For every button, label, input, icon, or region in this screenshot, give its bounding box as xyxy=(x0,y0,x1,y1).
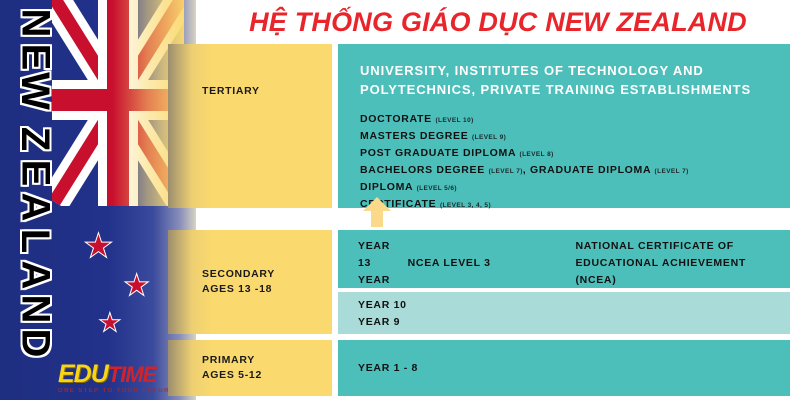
junior-year-row: YEAR 10 xyxy=(358,297,790,314)
qualification-name: MASTERS DEGREE xyxy=(360,130,468,142)
ncea-year: YEAR 13 xyxy=(358,238,404,272)
qualification-row: MASTERS DEGREE (LEVEL 9) xyxy=(360,128,776,145)
country-letter: Z xyxy=(18,127,52,151)
country-letter: N xyxy=(18,295,52,324)
country-letter: E xyxy=(18,160,52,187)
edutime-logo: EDU TIME ONE STEP TO YOUR FUTURE xyxy=(58,362,186,394)
level-label-tertiary: TERTIARY xyxy=(168,44,332,208)
union-jack-icon xyxy=(52,0,184,206)
qualification-level: (LEVEL 7) xyxy=(489,168,523,175)
primary-years: YEAR 1 - 8 xyxy=(358,362,418,374)
country-letter: A xyxy=(18,261,52,290)
qualification-name: POST GRADUATE DIPLOMA xyxy=(360,147,516,159)
logo-time-text: TIME xyxy=(108,364,157,386)
qualification-name: BACHELORS DEGREE xyxy=(360,164,485,176)
tertiary-heading: UNIVERSITY, INSTITUTES OF TECHNOLOGY AND… xyxy=(360,62,776,100)
new-zealand-flag-panel: ★ ★ ★ N E W Z E A L A N D EDU TIME ONE S… xyxy=(0,0,196,400)
qualification-row: BACHELORS DEGREE (LEVEL 7), GRADUATE DIP… xyxy=(360,162,776,179)
qualification-row: DIPLOMA (LEVEL 5/6) xyxy=(360,179,776,196)
secondary-ages-text: AGES 13 -18 xyxy=(202,282,275,297)
qualification-level: (LEVEL 5/6) xyxy=(417,185,457,192)
tertiary-label-text: TERTIARY xyxy=(202,84,260,99)
southern-cross-star-icon: ★ xyxy=(85,232,112,262)
logo-edu-text: EDU xyxy=(58,362,108,387)
qualification-name: DIPLOMA xyxy=(360,181,413,193)
country-letter: D xyxy=(18,329,52,358)
tertiary-heading-line1: UNIVERSITY, INSTITUTES OF TECHNOLOGY AND xyxy=(360,62,776,81)
tertiary-content-box: UNIVERSITY, INSTITUTES OF TECHNOLOGY AND… xyxy=(338,44,790,208)
country-letter: W xyxy=(18,72,52,110)
logo-tagline: ONE STEP TO YOUR FUTURE xyxy=(58,388,186,394)
level-label-secondary: SECONDARY AGES 13 -18 xyxy=(168,230,332,334)
southern-cross-star-icon: ★ xyxy=(125,272,148,298)
education-system-infographic: ★ ★ ★ N E W Z E A L A N D EDU TIME ONE S… xyxy=(0,0,800,400)
level-label-primary: PRIMARY AGES 5-12 xyxy=(168,340,332,396)
primary-label-text: PRIMARY xyxy=(202,353,262,368)
qualification-row: POST GRADUATE DIPLOMA (LEVEL 8) xyxy=(360,145,776,162)
country-letter: E xyxy=(18,44,52,71)
ncea-row: YEAR 13 NCEA LEVEL 3 xyxy=(358,238,575,272)
qualification-level-alt: (LEVEL 7) xyxy=(655,168,689,175)
qualification-name-alt: GRADUATE DIPLOMA xyxy=(530,164,651,176)
qualification-level: (LEVEL 10) xyxy=(435,117,473,124)
primary-ages-text: AGES 5-12 xyxy=(202,368,262,383)
secondary-ncea-box: YEAR 13 NCEA LEVEL 3 YEAR 12 NCEA LEVEL … xyxy=(338,230,790,288)
qualification-row: DOCTORATE (LEVEL 10) xyxy=(360,111,776,128)
secondary-label-text: SECONDARY xyxy=(202,267,275,282)
ncea-certificate-line1: NATIONAL CERTIFICATE OF xyxy=(575,238,790,255)
arrow-up-icon xyxy=(362,196,392,228)
qualification-row: CERTIFICATE (LEVEL 3, 4, 5) xyxy=(360,196,776,213)
qualification-level: (LEVEL 3, 4, 5) xyxy=(440,202,491,209)
country-letter: L xyxy=(18,229,52,253)
page-title: HỆ THỐNG GIÁO DỤC NEW ZEALAND xyxy=(196,2,800,42)
qualification-name: DOCTORATE xyxy=(360,113,432,125)
country-name-vertical: N E W Z E A L A N D xyxy=(4,6,66,396)
southern-cross-star-icon: ★ xyxy=(100,312,120,334)
ncea-level: NCEA LEVEL 3 xyxy=(408,257,491,269)
country-letter: N xyxy=(18,9,52,38)
primary-content-box: YEAR 1 - 8 xyxy=(338,340,790,396)
qualification-level: (LEVEL 9) xyxy=(472,134,506,141)
country-letter: A xyxy=(18,193,52,222)
ncea-certificate-line2: EDUCATIONAL ACHIEVEMENT (NCEA) xyxy=(575,255,790,289)
junior-year-row: YEAR 9 xyxy=(358,314,790,331)
qualification-level: (LEVEL 8) xyxy=(520,151,554,158)
tertiary-heading-line2: POLYTECHNICS, PRIVATE TRAINING ESTABLISH… xyxy=(360,81,776,100)
junior-secondary-box: YEAR 10 YEAR 9 xyxy=(338,292,790,334)
